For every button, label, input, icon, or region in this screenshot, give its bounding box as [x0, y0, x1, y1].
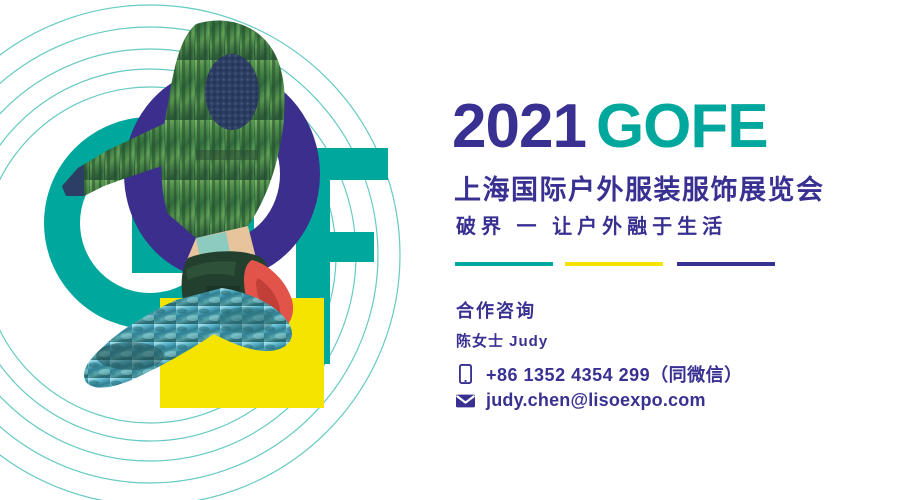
event-tagline: 破界 一 让户外融于生活 [456, 210, 727, 239]
gofe-collage-artwork [0, 0, 440, 500]
mobile-phone-icon [454, 364, 476, 384]
page-title: 2021 GOFE [452, 96, 768, 158]
event-info-panel: 2021 GOFE 上海国际户外服装服饰展览会 破界 一 让户外融于生活 合作咨… [452, 0, 900, 500]
event-promo-banner: 2021 GOFE 上海国际户外服装服饰展览会 破界 一 让户外融于生活 合作咨… [0, 0, 900, 500]
contact-person-name: 陈女士 Judy [456, 330, 548, 351]
divider-navy [677, 262, 775, 266]
jumping-outdoor-figure [50, 10, 310, 400]
divider-group [455, 262, 785, 266]
contact-email-value: judy.chen@lisoexpo.com [486, 390, 706, 411]
divider-teal [455, 262, 553, 266]
contact-phone[interactable]: +86 1352 4354 299（同微信） [454, 361, 743, 387]
divider-yellow [565, 262, 663, 266]
title-brand: GOFE [596, 96, 768, 158]
contact-email[interactable]: judy.chen@lisoexpo.com [454, 390, 706, 411]
title-year: 2021 [452, 96, 586, 158]
envelope-icon [454, 394, 476, 408]
contact-heading: 合作咨询 [456, 297, 536, 323]
event-subtitle: 上海国际户外服装服饰展览会 [454, 168, 825, 207]
contact-phone-value: +86 1352 4354 299（同微信） [486, 361, 743, 387]
